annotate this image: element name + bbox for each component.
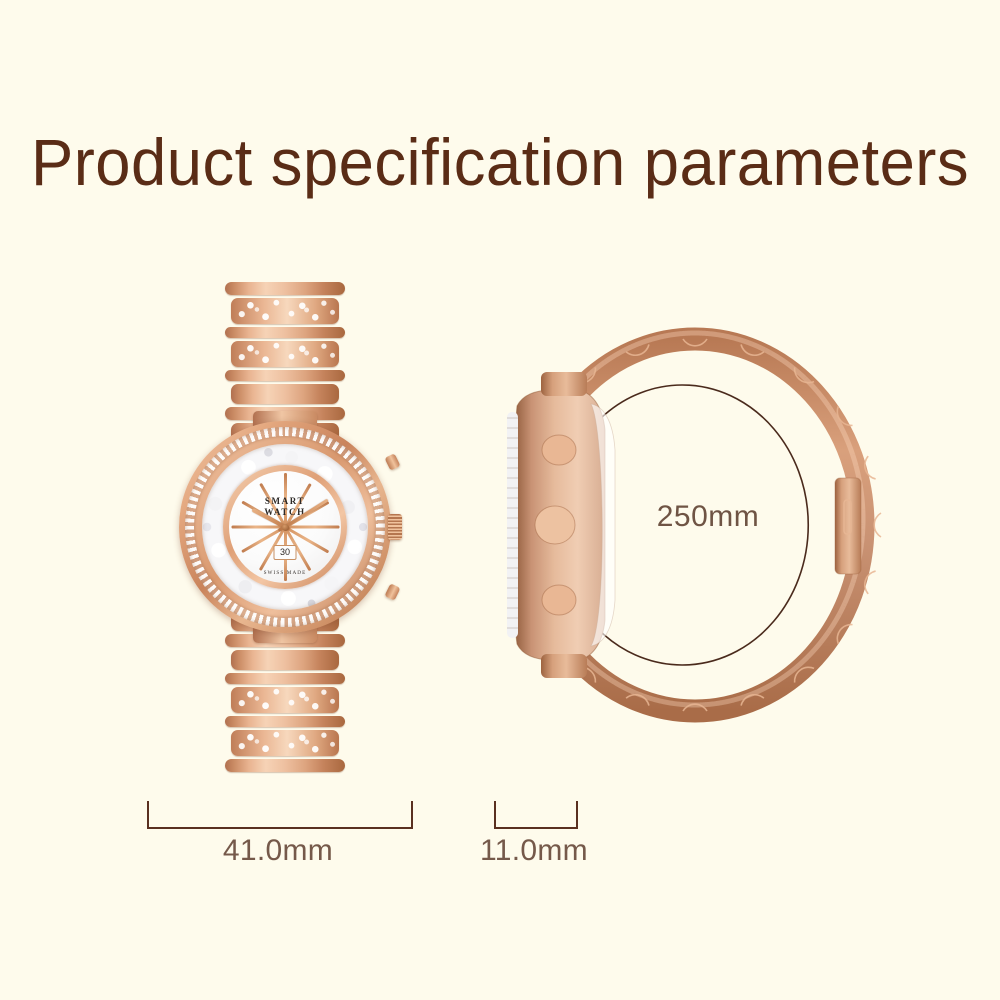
bracelet-link-pave xyxy=(231,298,339,324)
hour-marker xyxy=(285,526,339,529)
lug-bottom-side xyxy=(541,654,587,678)
bracelet-link xyxy=(225,327,345,338)
pusher-top-side xyxy=(542,435,576,465)
watch-front-view: SMART WATCH 30 SWISS MADE xyxy=(135,282,435,772)
bracelet-link-pave xyxy=(231,341,339,367)
bracelet-link xyxy=(231,650,339,670)
bracelet-link xyxy=(231,384,339,404)
watch-case: SMART WATCH 30 SWISS MADE xyxy=(179,421,391,633)
bracelet-link xyxy=(225,673,345,684)
band-circumference-label: 250mm xyxy=(638,500,778,534)
swiss-made-text: SWISS MADE xyxy=(229,570,341,576)
bracelet-link xyxy=(225,716,345,727)
pusher-bottom-side xyxy=(542,585,576,615)
crown[interactable] xyxy=(388,514,402,540)
crown-side xyxy=(535,506,575,544)
case-width-label: 41.0mm xyxy=(147,834,409,868)
case-width-bracket xyxy=(147,801,413,829)
bracelet-link xyxy=(225,370,345,381)
case-thickness-bracket xyxy=(494,801,578,829)
hand-center-cap xyxy=(282,524,289,531)
dial-brand-line-2: WATCH xyxy=(229,507,341,518)
product-spec-page: Product specification parameters xyxy=(0,0,1000,1000)
clasp xyxy=(835,478,861,574)
bracelet-link-pave xyxy=(231,730,339,756)
pusher-bottom[interactable] xyxy=(384,583,400,600)
watch-dial: SMART WATCH 30 SWISS MADE xyxy=(229,471,341,583)
pusher-top[interactable] xyxy=(384,453,400,470)
bracelet-link xyxy=(225,282,345,295)
date-window: 30 xyxy=(274,545,297,560)
bracelet-link xyxy=(225,759,345,772)
hour-marker xyxy=(231,526,285,529)
case-thickness-label: 11.0mm xyxy=(454,834,614,868)
page-title: Product specification parameters xyxy=(20,124,980,200)
case-side-profile xyxy=(507,372,615,678)
bracelet-link-pave xyxy=(231,687,339,713)
watch-side-view: 250mm xyxy=(483,300,903,750)
bezel-edge xyxy=(507,412,518,638)
lug-top-side xyxy=(541,372,587,396)
